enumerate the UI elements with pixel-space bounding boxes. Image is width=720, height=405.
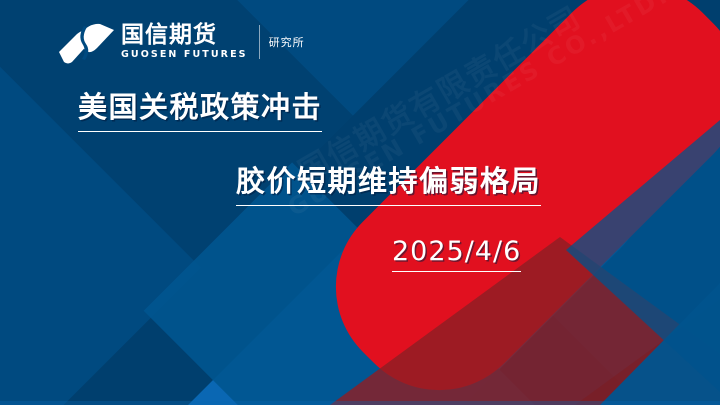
title-group: 美国关税政策冲击 胶价短期维持偏弱格局 2025/4/6 — [0, 88, 720, 272]
logo-company-cn: 国信期货 — [121, 24, 248, 47]
presentation-title-slide: 国信期货有限责任公司 GUOSEN FUTURES CO.,LTD. 国信期货 … — [0, 0, 720, 405]
title-line-2-text: 胶价短期维持偏弱格局 — [236, 162, 541, 206]
title-date-text: 2025/4/6 — [392, 236, 521, 272]
title-date: 2025/4/6 — [392, 236, 720, 272]
logo-department: 研究所 — [269, 34, 305, 50]
guosen-futures-logo-mark-icon — [57, 19, 117, 65]
brand-logo: 国信期货 GUOSEN FUTURES 研究所 — [57, 17, 305, 67]
logo-divider — [259, 25, 260, 59]
logo-company-en: GUOSEN FUTURES — [121, 49, 248, 60]
title-line-2: 胶价短期维持偏弱格局 — [236, 162, 720, 206]
title-line-1-text: 美国关税政策冲击 — [78, 88, 322, 132]
title-line-1: 美国关税政策冲击 — [78, 88, 720, 132]
